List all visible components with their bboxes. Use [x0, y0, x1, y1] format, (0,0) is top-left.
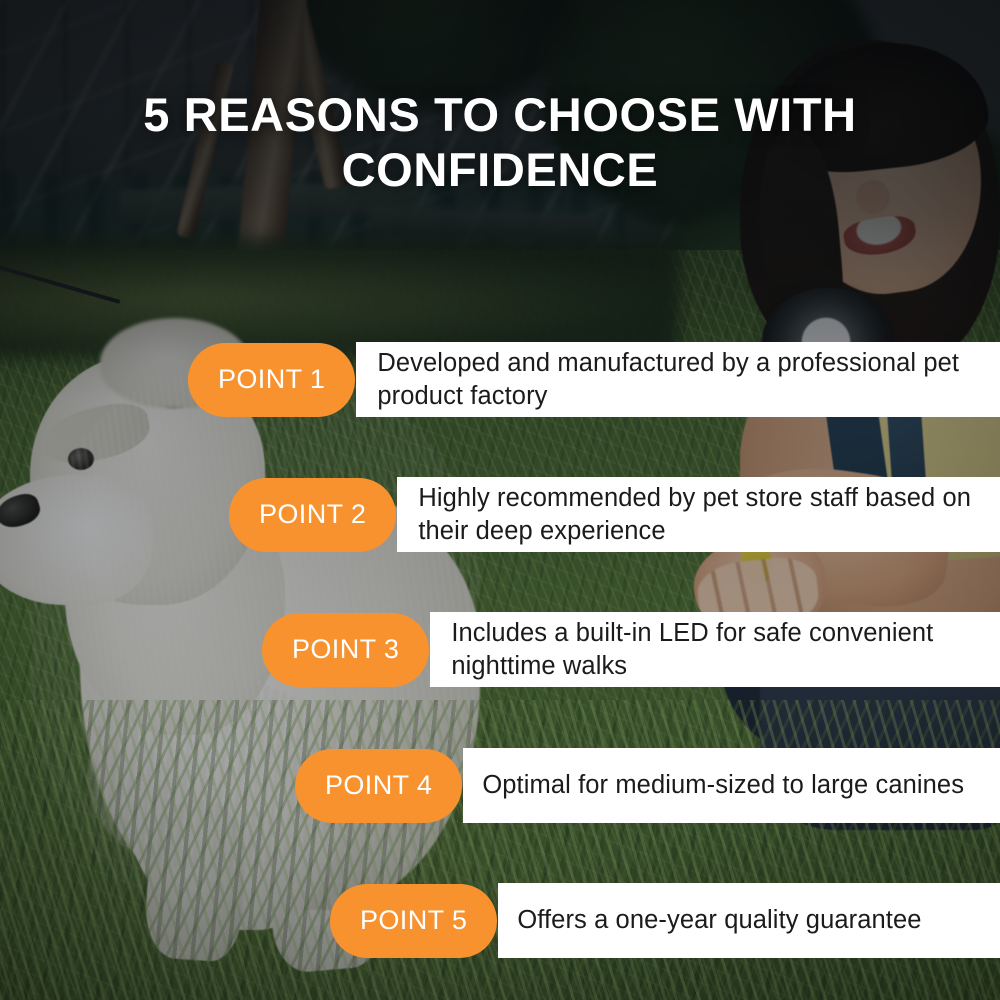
point-badge-1[interactable]: POINT 1	[188, 343, 355, 417]
list-item: POINT 5 Offers a one-year quality guaran…	[330, 883, 1000, 958]
point-text-3: Includes a built-in LED for safe conveni…	[429, 617, 1000, 681]
list-item: POINT 1 Developed and manufactured by a …	[188, 342, 1000, 417]
list-item: POINT 2 Highly recommended by pet store …	[229, 477, 1000, 552]
point-badge-4[interactable]: POINT 4	[295, 749, 462, 823]
points-list: POINT 1 Developed and manufactured by a …	[0, 0, 1000, 1000]
point-text-5: Offers a one-year quality guarantee	[497, 904, 935, 936]
point-badge-2[interactable]: POINT 2	[229, 478, 396, 552]
point-badge-5[interactable]: POINT 5	[330, 884, 497, 958]
list-item: POINT 3 Includes a built-in LED for safe…	[262, 612, 1000, 687]
point-text-1: Developed and manufactured by a professi…	[355, 347, 1000, 411]
promo-banner: 5 REASONS TO CHOOSE WITH CONFIDENCE POIN…	[0, 0, 1000, 1000]
content-layer: 5 REASONS TO CHOOSE WITH CONFIDENCE POIN…	[0, 0, 1000, 1000]
point-badge-3[interactable]: POINT 3	[262, 613, 429, 687]
point-text-2: Highly recommended by pet store staff ba…	[396, 482, 1000, 546]
list-item: POINT 4 Optimal for medium-sized to larg…	[295, 748, 1000, 823]
point-text-4: Optimal for medium-sized to large canine…	[462, 769, 978, 801]
